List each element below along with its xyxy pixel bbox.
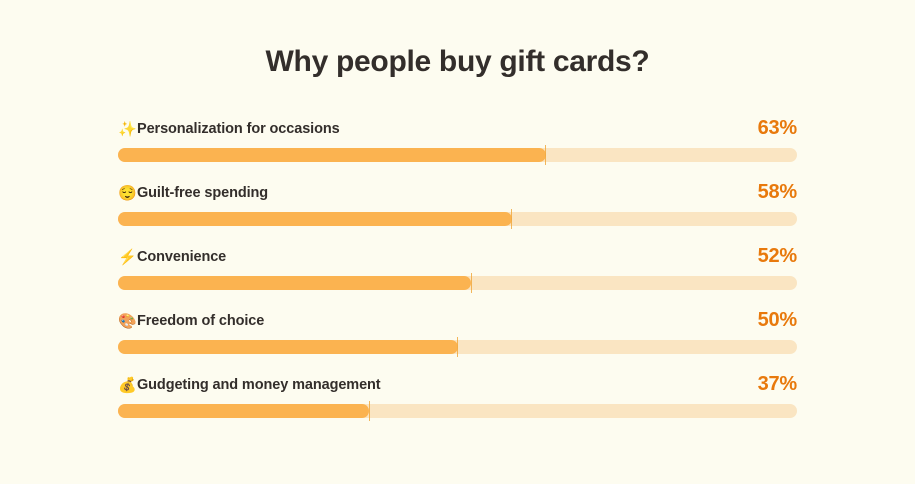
bar-track [118, 276, 797, 290]
chart-row: 😌 Guilt-free spending 58% [118, 182, 797, 246]
bar-marker [511, 209, 512, 229]
chart-title: Why people buy gift cards? [0, 42, 915, 82]
gift-card-reasons-chart: Why people buy gift cards? ✨ Personaliza… [0, 0, 915, 484]
chart-row-value: 63% [758, 116, 797, 140]
bar-fill [118, 276, 471, 290]
chart-row-header: 🎨 Freedom of choice 50% [118, 310, 797, 332]
bar-fill [118, 340, 458, 354]
bar-track [118, 404, 797, 418]
chart-row-label: Convenience [137, 249, 226, 265]
bar-chart-rows: ✨ Personalization for occasions 63% 😌 Gu… [118, 118, 797, 438]
bar-track [118, 212, 797, 226]
chart-row: 💰 Gudgeting and money management 37% [118, 374, 797, 438]
bar-fill [118, 212, 512, 226]
chart-row: ⚡ Convenience 52% [118, 246, 797, 310]
chart-row-label: Guilt-free spending [137, 185, 268, 201]
money-bag-icon: 💰 [118, 378, 137, 393]
chart-row-value: 52% [758, 244, 797, 268]
sparkles-icon: ✨ [118, 122, 137, 137]
chart-row-header: ✨ Personalization for occasions 63% [118, 118, 797, 140]
bar-marker [471, 273, 472, 293]
chart-row: ✨ Personalization for occasions 63% [118, 118, 797, 182]
lightning-bolt-icon: ⚡ [118, 250, 137, 265]
bar-fill [118, 148, 546, 162]
bar-marker [457, 337, 458, 357]
bar-fill [118, 404, 369, 418]
chart-row-header: ⚡ Convenience 52% [118, 246, 797, 268]
bar-track [118, 148, 797, 162]
relieved-face-icon: 😌 [118, 186, 137, 201]
artist-palette-icon: 🎨 [118, 314, 137, 329]
chart-row: 🎨 Freedom of choice 50% [118, 310, 797, 374]
chart-row-label: Personalization for occasions [137, 121, 340, 137]
bar-track [118, 340, 797, 354]
chart-row-value: 37% [758, 372, 797, 396]
chart-row-value: 50% [758, 308, 797, 332]
bar-marker [369, 401, 370, 421]
chart-row-header: 😌 Guilt-free spending 58% [118, 182, 797, 204]
chart-row-value: 58% [758, 180, 797, 204]
chart-row-label: Gudgeting and money management [137, 377, 381, 393]
chart-row-header: 💰 Gudgeting and money management 37% [118, 374, 797, 396]
chart-row-label: Freedom of choice [137, 313, 264, 329]
bar-marker [545, 145, 546, 165]
